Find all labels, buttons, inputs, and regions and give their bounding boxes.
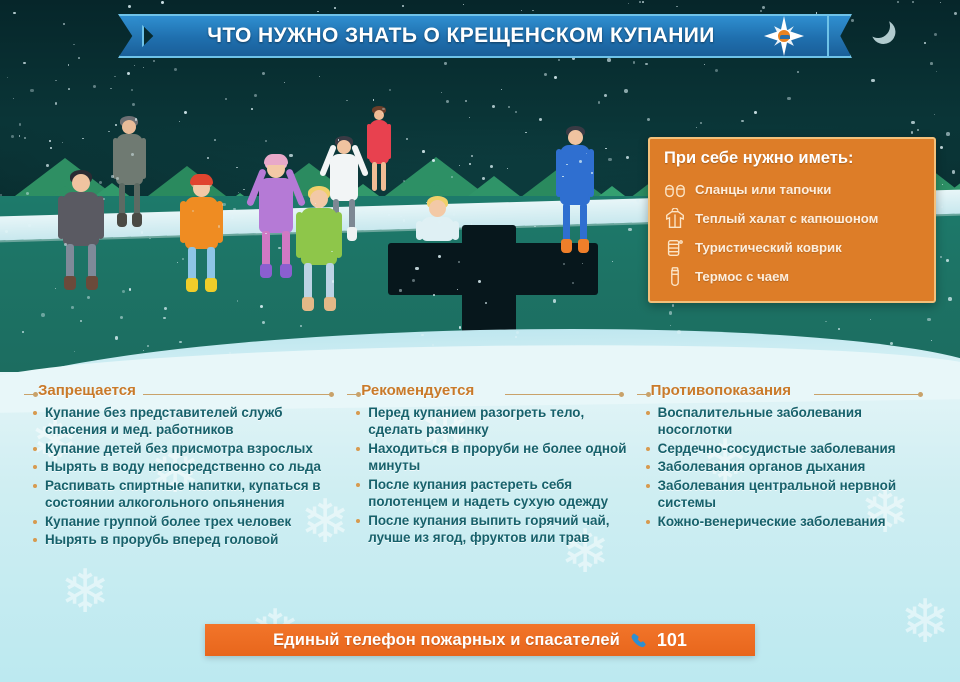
emergency-phone-number: 101: [657, 630, 687, 651]
required-item-label: Туристический коврик: [695, 240, 842, 255]
rule-item: Заболевания органов дыхания: [643, 458, 936, 475]
rule-item: После купания растереть себя полотенцем …: [353, 476, 636, 511]
heading-rule-left: [637, 394, 647, 395]
character-child-in-orange-coat: [180, 178, 222, 290]
rule-item: Купание группой более трех человек: [30, 513, 347, 530]
rule-item: Распивать спиртные напитки, купаться в с…: [30, 477, 347, 512]
rule-item: Заболевания центральной нервной системы: [643, 477, 936, 512]
rule-item: После купания выпить горячий чай, лучше …: [353, 512, 636, 547]
required-item-label: Теплый халат с капюшоном: [695, 211, 878, 226]
slippers-icon: [664, 179, 686, 201]
column-heading: Противопоказания: [651, 382, 791, 399]
column-heading: Рекомендуется: [361, 382, 474, 399]
rules-column-2: РекомендуетсяПеред купанием разогреть те…: [347, 382, 636, 549]
snowflake-watermark: ❄: [900, 592, 950, 652]
required-items-heading: При себе нужно иметь:: [664, 149, 922, 168]
character-man-with-shovel: [112, 118, 146, 228]
rules-column-1: ЗапрещаетсяКупание без представителей сл…: [24, 382, 347, 549]
required-item: Теплый халат с капюшоном: [664, 204, 922, 233]
required-item: Термос с чаем: [664, 262, 922, 291]
thermos-icon: [664, 266, 686, 288]
rules-columns: ЗапрещаетсяКупание без представителей сл…: [0, 382, 960, 549]
character-girl-in-purple-coat-arms-raised: [254, 158, 298, 278]
rules-list: Воспалительные заболевания носоглоткиСер…: [643, 404, 936, 530]
required-items-box: При себе нужно иметь: Сланцы или тапочки…: [648, 137, 936, 303]
hooded-robe-icon: [664, 208, 686, 230]
rule-item: Купание детей без присмотра взрослых: [30, 440, 347, 457]
required-item: Сланцы или тапочки: [664, 175, 922, 204]
required-item-label: Термос с чаем: [695, 269, 789, 284]
phone-icon: [630, 632, 647, 649]
page-title: ЧТО НУЖНО ЗНАТЬ О КРЕЩЕНСКОМ КУПАНИИ: [207, 24, 715, 48]
infographic-poster: ЧТО НУЖНО ЗНАТЬ О КРЕЩЕНСКОМ КУПАНИИ При…: [0, 0, 960, 682]
required-item-label: Сланцы или тапочки: [695, 182, 831, 197]
rule-item: Перед купанием разогреть тело, сделать р…: [353, 404, 636, 439]
rule-item: Купание без представителей служб спасени…: [30, 404, 347, 439]
column-heading: Запрещается: [38, 382, 136, 399]
rule-item: Кожно-венерические заболевания: [643, 513, 936, 530]
heading-rule-right: [814, 394, 922, 395]
emergency-phone-banner: Единый телефон пожарных и спасателей 101: [205, 624, 755, 656]
rule-item: Нырять в прорубь вперед головой: [30, 531, 347, 548]
heading-rule-right: [143, 394, 333, 395]
emergency-phone-label: Единый телефон пожарных и спасателей: [273, 631, 620, 650]
heading-rule-left: [24, 394, 34, 395]
camping-mat-icon: [664, 237, 686, 259]
emercom-star-icon: [764, 16, 804, 56]
rule-item: Находиться в проруби не более одной мину…: [353, 440, 636, 475]
heading-rule-left: [347, 394, 357, 395]
required-item: Туристический коврик: [664, 233, 922, 262]
rules-list: Купание без представителей служб спасени…: [30, 404, 347, 548]
rule-item: Нырять в воду непосредственно со льда: [30, 458, 347, 475]
snowflake-watermark: ❄: [60, 562, 110, 622]
heading-rule-right: [505, 394, 623, 395]
character-woman-in-red-swimsuit: [366, 108, 392, 204]
rule-item: Сердечно-сосудистые заболевания: [643, 440, 936, 457]
character-woman-in-green-coat: [296, 188, 342, 312]
character-man-with-backpack: [58, 172, 104, 290]
rule-item: Воспалительные заболевания носоглотки: [643, 404, 936, 439]
required-items-list: Сланцы или тапочкиТеплый халат с капюшон…: [664, 175, 922, 291]
rules-list: Перед купанием разогреть тело, сделать р…: [353, 404, 636, 546]
rules-column-3: ПротивопоказанияВоспалительные заболеван…: [637, 382, 936, 549]
character-rescue-diver-in-wetsuit: [556, 128, 594, 258]
character-woman-bathing-in-ice-hole: [416, 198, 458, 250]
title-banner: ЧТО НУЖНО ЗНАТЬ О КРЕЩЕНСКОМ КУПАНИИ: [131, 14, 829, 58]
